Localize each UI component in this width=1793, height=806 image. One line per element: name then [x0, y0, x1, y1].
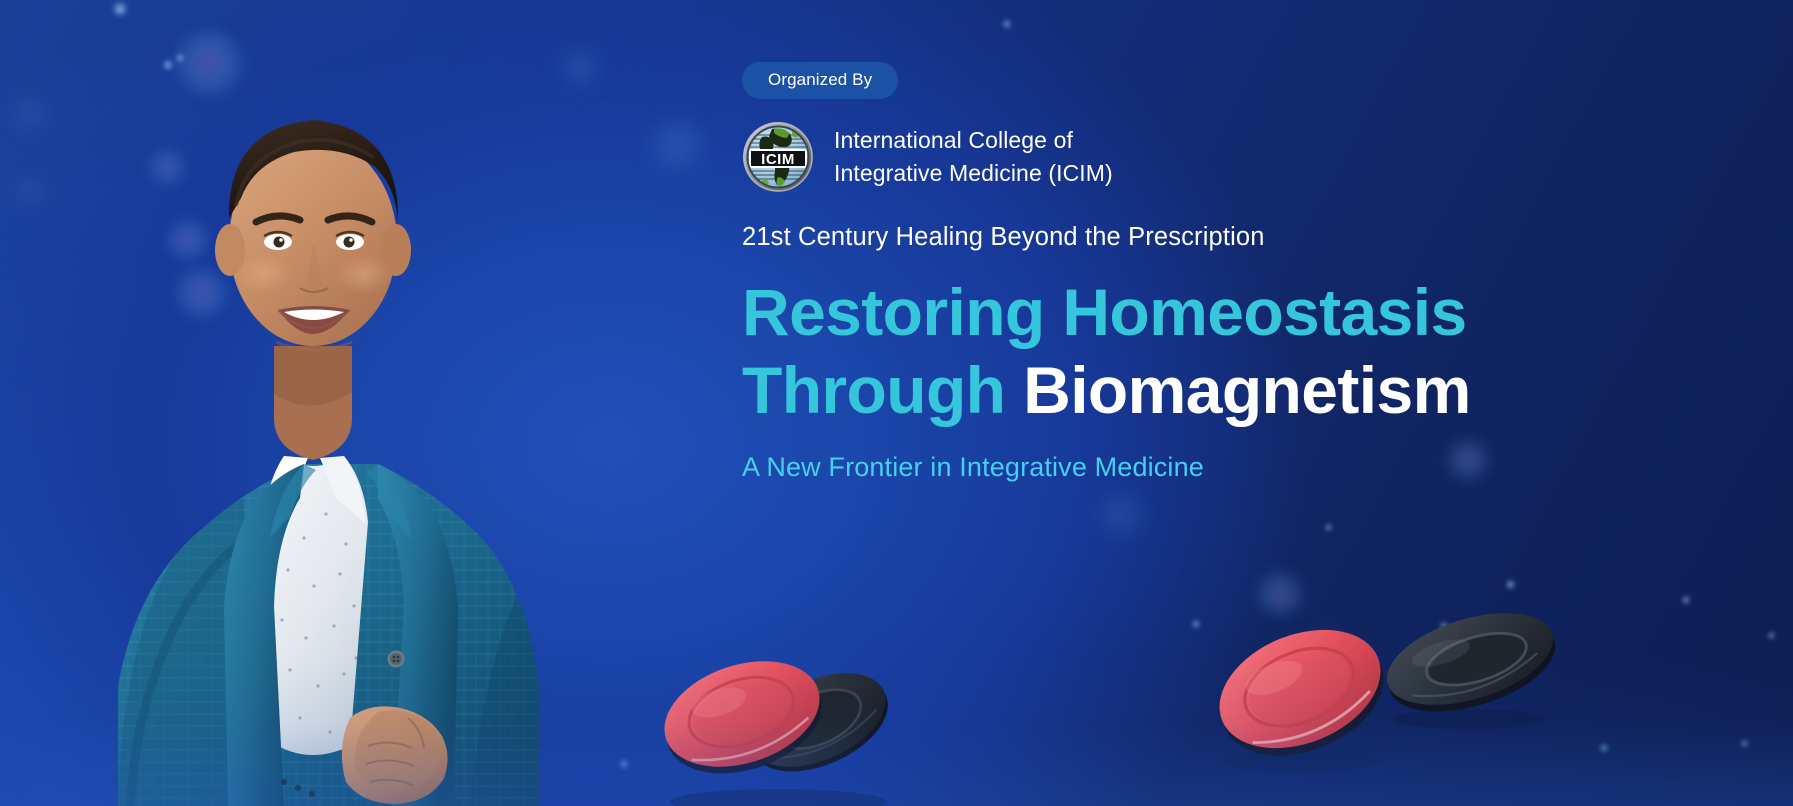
headline-through: Through — [742, 353, 1023, 427]
organizer-name-line1: International College of — [834, 124, 1113, 157]
bokeh-particle — [113, 2, 127, 16]
hero-banner: Organized By — [0, 0, 1793, 806]
bokeh-particle — [1440, 622, 1448, 630]
bokeh-particle — [1099, 492, 1143, 536]
organizer-name: International College of Integrative Med… — [834, 124, 1113, 190]
eyebrow-tagline: 21st Century Healing Beyond the Prescrip… — [742, 223, 1742, 252]
bokeh-particle — [1310, 632, 1334, 656]
bokeh-particle — [560, 48, 600, 88]
bokeh-particle — [1228, 682, 1235, 689]
organizer-name-line2: Integrative Medicine (ICIM) — [834, 157, 1113, 190]
magnet-black-right — [1370, 593, 1570, 738]
subtitle: A New Frontier in Integrative Medicine — [742, 452, 1742, 483]
headline-line-2: Through Biomagnetism — [742, 352, 1742, 430]
bokeh-particle — [1768, 632, 1775, 639]
hero-content: Organized By — [742, 62, 1742, 483]
bokeh-particle — [18, 178, 44, 204]
bokeh-particle — [1600, 744, 1608, 752]
bokeh-particle — [1192, 620, 1200, 628]
bokeh-particle — [1003, 20, 1011, 28]
speaker-portrait — [78, 46, 548, 806]
bokeh-particle — [1682, 596, 1690, 604]
headline-biomagnetism: Biomagnetism — [1023, 353, 1471, 427]
bokeh-particle — [14, 98, 44, 128]
icim-globe-logo-icon: ICIM — [742, 121, 814, 193]
magnet-pair-left — [646, 616, 906, 806]
bokeh-particle — [1325, 524, 1332, 531]
bokeh-particle — [1741, 740, 1748, 747]
magnet-red-right — [1200, 611, 1400, 776]
bokeh-particle — [1506, 580, 1515, 589]
organized-by-badge: Organized By — [742, 62, 898, 99]
page-title: Restoring Homeostasis Through Biomagneti… — [742, 274, 1742, 430]
bokeh-particle — [650, 118, 704, 172]
bokeh-particle — [1366, 660, 1374, 668]
bokeh-particle — [620, 760, 628, 768]
organizer-row: ICIM International College of Integrativ… — [742, 121, 1742, 193]
svg-text:ICIM: ICIM — [761, 151, 795, 168]
headline-line-1: Restoring Homeostasis — [742, 274, 1742, 352]
bokeh-particle — [1258, 572, 1302, 616]
